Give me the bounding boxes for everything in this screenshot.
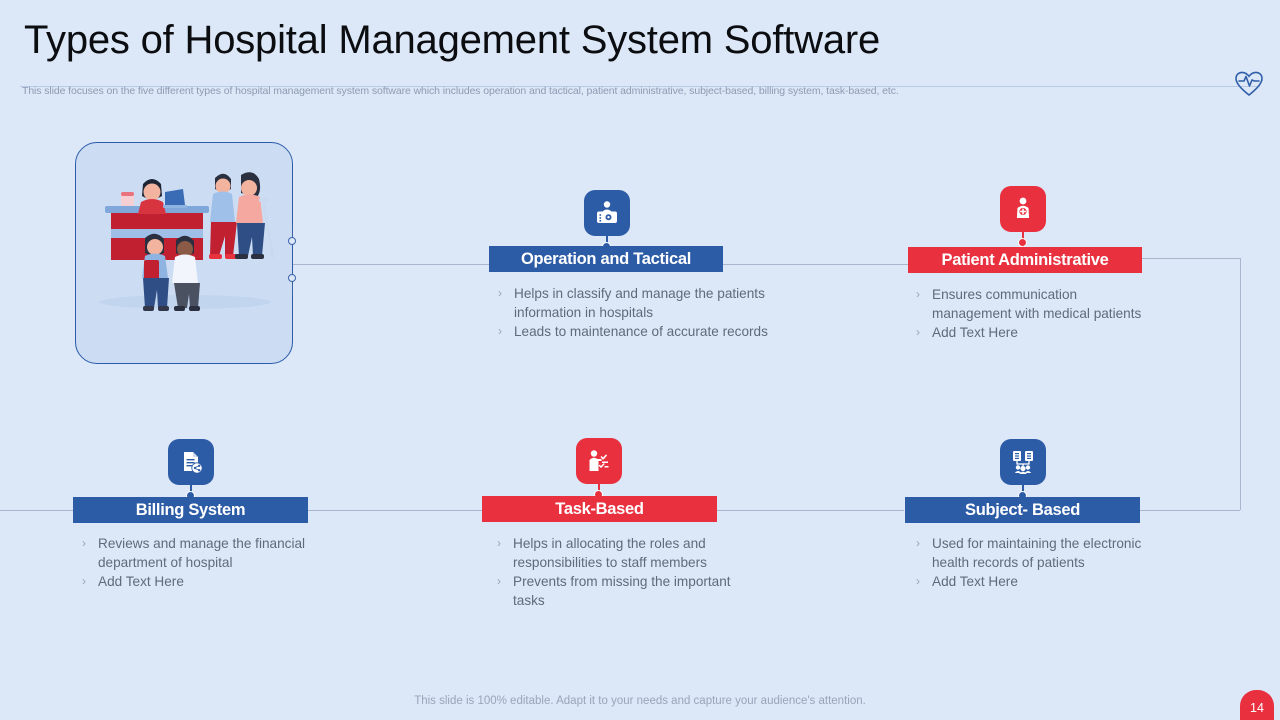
list-item: › Add Text Here [916, 323, 1144, 342]
people-records-icon[interactable] [1000, 439, 1046, 485]
list-item: › Ensures communication management with … [916, 285, 1144, 323]
connector-stem-lower [292, 283, 293, 295]
connector-line-right-bottom [1140, 510, 1240, 511]
connector-line-right-top [1141, 258, 1240, 259]
card-title-patient-administrative: Patient Administrative [908, 247, 1142, 273]
id-badge-monitor-icon[interactable] [584, 190, 630, 236]
bullet-marker: › [498, 322, 514, 341]
bullet-text: Add Text Here [932, 572, 1018, 591]
hospital-reception-illustration [83, 150, 285, 356]
card-title-operation-and-tactical: Operation and Tactical [489, 246, 723, 272]
list-item: › Add Text Here [916, 572, 1156, 591]
connector-node-lower [288, 274, 296, 282]
card-title-billing-system: Billing System [73, 497, 308, 523]
bullet-marker: › [916, 285, 932, 323]
nurse-medical-cross-icon[interactable] [1000, 186, 1046, 232]
bullet-text: Reviews and manage the financial departm… [98, 534, 344, 572]
list-item: › Helps in classify and manage the patie… [498, 284, 770, 322]
card-bullets-subject-based: › Used for maintaining the electronic he… [916, 534, 1156, 591]
card-title-task-based: Task-Based [482, 496, 717, 522]
connector-line-right-vertical [1240, 258, 1241, 510]
connector-node-upper [288, 237, 296, 245]
hospital-illustration-frame [75, 142, 293, 364]
connector-line-bottom-mid [307, 510, 483, 511]
bullet-marker: › [497, 572, 513, 610]
list-item: › Helps in allocating the roles and resp… [497, 534, 759, 572]
card-bullets-task-based: › Helps in allocating the roles and resp… [497, 534, 759, 610]
person-checklist-icon[interactable] [576, 438, 622, 484]
bullet-marker: › [82, 534, 98, 572]
list-item: › Add Text Here [82, 572, 344, 591]
bullet-text: Prevents from missing the important task… [513, 572, 759, 610]
connector-line-top-right [721, 264, 910, 265]
bullet-marker: › [916, 323, 932, 342]
card-title-subject-based: Subject- Based [905, 497, 1140, 523]
list-item: › Leads to maintenance of accurate recor… [498, 322, 770, 341]
list-item: › Prevents from missing the important ta… [497, 572, 759, 610]
footer-note: This slide is 100% editable. Adapt it to… [0, 695, 1280, 707]
heart-pulse-icon [1234, 70, 1264, 98]
bullet-marker: › [916, 534, 932, 572]
page-title: Types of Hospital Management System Soft… [24, 18, 880, 62]
list-item: › Used for maintaining the electronic he… [916, 534, 1156, 572]
bullet-marker: › [498, 284, 514, 322]
bullet-text: Ensures communication management with me… [932, 285, 1144, 323]
bullet-text: Helps in classify and manage the patient… [514, 284, 770, 322]
icon-connector-node [1018, 238, 1027, 247]
bullet-marker: › [82, 572, 98, 591]
document-share-icon[interactable] [168, 439, 214, 485]
bullet-text: Helps in allocating the roles and respon… [513, 534, 759, 572]
bullet-text: Add Text Here [932, 323, 1018, 342]
connector-stem-upper [292, 225, 293, 237]
card-bullets-operation-and-tactical: › Helps in classify and manage the patie… [498, 284, 770, 341]
connector-line-bottom-right [716, 510, 904, 511]
slide-canvas: Types of Hospital Management System Soft… [0, 0, 1280, 720]
bullet-marker: › [916, 572, 932, 591]
connector-line-bottom-left [0, 510, 74, 511]
page-subtitle: This slide focuses on the five different… [22, 85, 899, 97]
card-bullets-patient-administrative: › Ensures communication management with … [916, 285, 1144, 342]
bullet-marker: › [497, 534, 513, 572]
bullet-text: Add Text Here [98, 572, 184, 591]
card-bullets-billing-system: › Reviews and manage the financial depar… [82, 534, 344, 591]
bullet-text: Used for maintaining the electronic heal… [932, 534, 1156, 572]
bullet-text: Leads to maintenance of accurate records [514, 322, 768, 341]
list-item: › Reviews and manage the financial depar… [82, 534, 344, 572]
page-number-badge: 14 [1240, 690, 1274, 720]
connector-line-top-left [292, 264, 492, 265]
